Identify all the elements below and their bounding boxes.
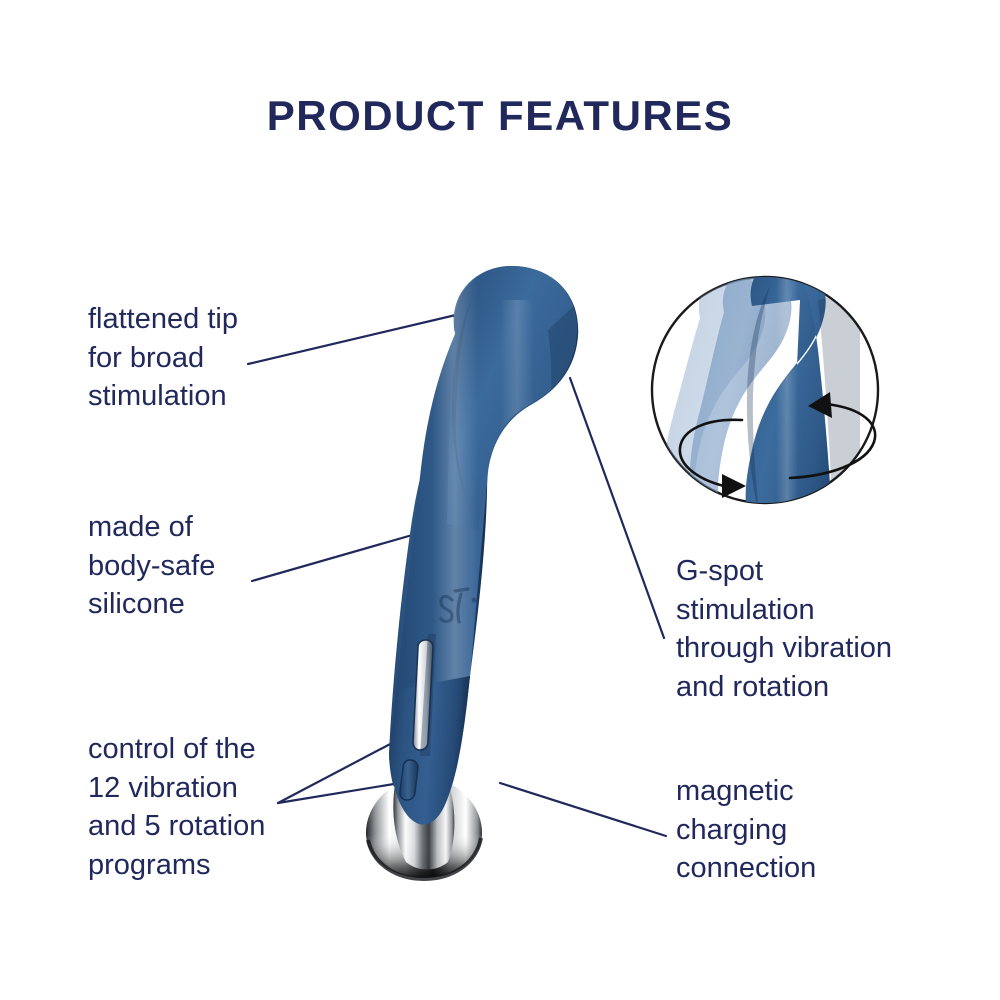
callout-flattened-tip: flattened tip for broad stimulation [88, 300, 338, 416]
leader-line-magnetic [500, 783, 666, 836]
callout-g-spot: G-spot stimulation through vibration and… [676, 552, 946, 706]
callout-body-safe-silicone: made of body-safe silicone [88, 508, 338, 624]
callout-controls: control of the 12 vibration and 5 rotati… [88, 730, 363, 884]
product-body [366, 260, 580, 879]
callout-magnetic-charging: magnetic charging connection [676, 772, 926, 888]
shaft-highlight-2 [500, 300, 534, 820]
round-button[interactable] [400, 760, 418, 800]
infographic-page: PRODUCT FEATURES [0, 0, 1000, 1000]
leader-line-gspot [570, 378, 664, 638]
